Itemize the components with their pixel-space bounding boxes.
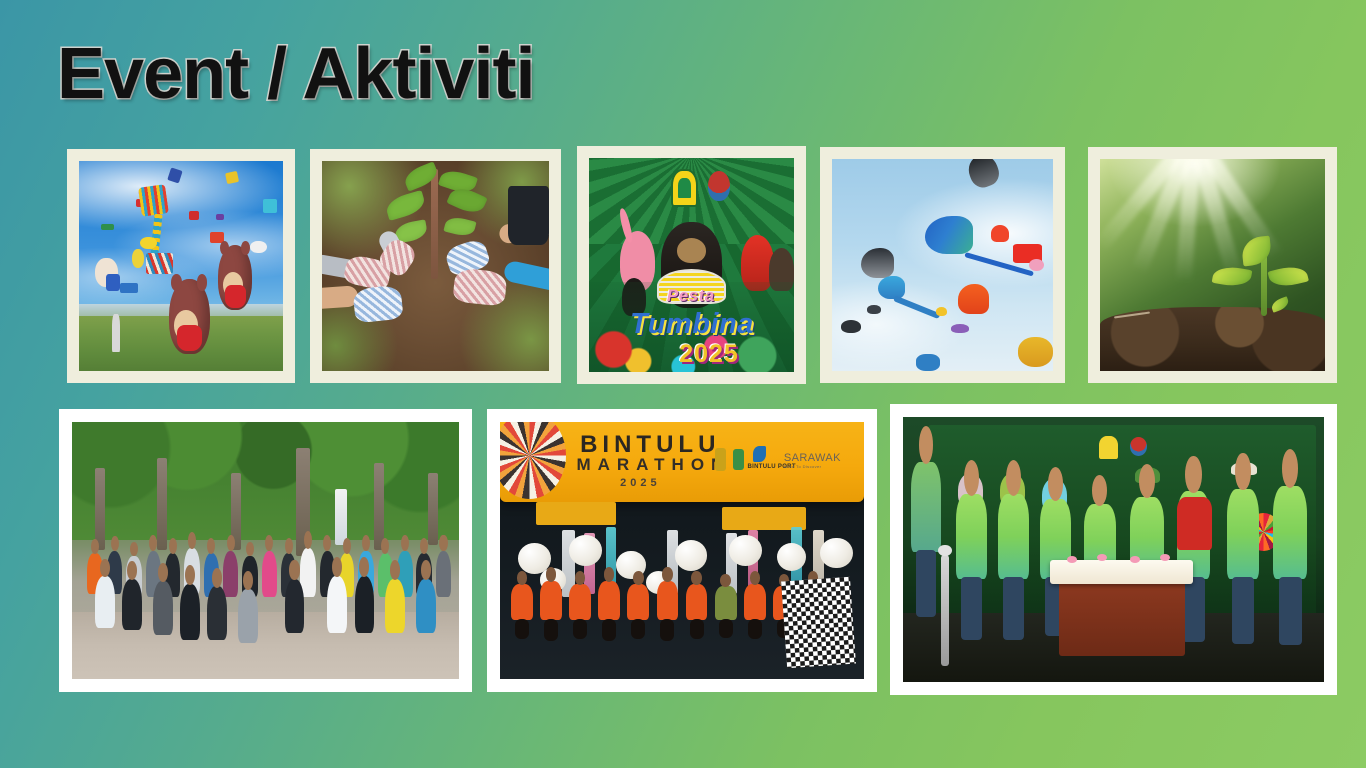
gallery-item-kite-festival-field[interactable]	[67, 149, 295, 383]
marathon-title-line2: MARATHON	[576, 455, 730, 475]
official-person	[998, 494, 1030, 579]
balloon	[569, 535, 602, 566]
sapling-leaf	[383, 190, 426, 221]
ceremonial-cake	[1050, 560, 1193, 584]
official-person	[1273, 486, 1307, 579]
tree-trunk	[428, 473, 438, 545]
gallery-item-bintulu-marathon-startline[interactable]: BINTULU MARATHON 2025 BINTULU PORT SARAW…	[487, 409, 877, 692]
vip-red-vest	[1177, 497, 1213, 550]
crowd-person-front	[285, 579, 304, 633]
seedling-leaf	[1267, 263, 1309, 291]
soil-mound	[1100, 307, 1325, 371]
arm	[502, 260, 549, 294]
runner	[598, 581, 620, 620]
runner	[627, 584, 649, 620]
rope-stanchion	[941, 555, 949, 666]
kite-shape	[132, 249, 144, 268]
photo-bintulu-marathon-startline: BINTULU MARATHON 2025 BINTULU PORT SARAW…	[500, 422, 864, 679]
state-crest-icon	[671, 169, 698, 208]
poster-title-tumbina: Tumbina	[630, 308, 754, 341]
cake-rose-decoration	[1067, 556, 1077, 563]
kite-small	[936, 307, 947, 315]
kite-pink	[1029, 259, 1044, 272]
kite-streamer	[138, 184, 168, 217]
runner	[744, 584, 766, 620]
photo-cake-cutting-ceremony	[903, 417, 1324, 682]
kite-small	[916, 354, 940, 371]
marathon-year: 2025	[620, 477, 660, 489]
ceremony-table	[1059, 576, 1185, 656]
sapling-stem	[431, 169, 438, 278]
kite-shape	[120, 283, 138, 294]
checkered-flag	[781, 576, 856, 668]
smiley-kite	[140, 237, 156, 250]
photo-pesta-tumbina-poster: Pesta Tumbina 2025	[589, 158, 794, 372]
kite-butterfly	[1018, 337, 1053, 367]
balloon	[675, 540, 708, 571]
sarawak-text: SARAWAK	[784, 452, 841, 464]
crowd-person-front	[95, 576, 114, 627]
bintulu-port-mark-icon	[753, 446, 766, 461]
official-person	[1227, 489, 1259, 579]
kite-shape	[189, 211, 199, 219]
photo-community-group-photo	[72, 422, 459, 679]
gallery-item-cake-cutting-ceremony[interactable]	[890, 404, 1337, 695]
kite-small	[951, 324, 969, 332]
sarawak-tagline: More To Discover	[784, 464, 841, 469]
kite-shape	[167, 168, 183, 184]
seedling-leaf	[1211, 264, 1252, 289]
kite-small	[841, 320, 861, 333]
squirrel-mascot-kite	[169, 279, 210, 355]
crowd-person-front	[385, 579, 404, 633]
kite-dragon	[861, 248, 894, 278]
council-logo-icon	[733, 449, 744, 470]
balloon	[777, 543, 806, 571]
crowd-person	[223, 551, 238, 597]
speaker-box	[536, 502, 616, 525]
runner	[540, 581, 562, 620]
crowd-person	[436, 551, 451, 597]
crowd-person-front	[355, 576, 374, 633]
photo-kite-festival-field	[79, 161, 283, 371]
runner	[657, 581, 679, 620]
event-banner	[335, 489, 347, 546]
official-person	[911, 462, 940, 552]
kite-blue-fish	[878, 276, 905, 299]
glove-blue	[352, 285, 403, 323]
gallery-item-community-group-photo[interactable]	[59, 409, 472, 692]
runner	[715, 586, 737, 619]
crowd-person-front	[153, 581, 172, 635]
poster-year: 2025	[679, 340, 739, 369]
official-person	[956, 494, 988, 579]
tree-trunk	[157, 458, 167, 551]
gallery-item-animal-kites-sky[interactable]	[820, 147, 1065, 383]
sarawak-emblem-icon	[715, 448, 726, 471]
kite-shape	[225, 170, 239, 183]
photo-tree-planting-hands	[322, 161, 549, 371]
gallery-item-seedling-in-soil[interactable]	[1088, 147, 1337, 383]
squirrel-mascot-kite	[218, 245, 253, 310]
crowd-person-front	[180, 584, 199, 641]
gallery-item-tree-planting-hands[interactable]	[310, 149, 561, 383]
kite-shape	[250, 241, 266, 254]
kite-red-orange	[991, 225, 1009, 242]
poster-title-pesta: Pesta	[667, 286, 715, 306]
crowd-person-front	[327, 576, 346, 633]
kite-shape	[263, 199, 277, 214]
cake-rose-decoration	[1130, 556, 1140, 563]
kite-shape	[101, 224, 113, 230]
glove-red	[452, 268, 507, 307]
balloon	[729, 535, 762, 566]
runner	[569, 584, 591, 620]
crowd-person-front	[207, 586, 226, 640]
seedling-leaf	[1240, 236, 1272, 266]
kite-shape	[216, 214, 224, 220]
photo-animal-kites-sky	[832, 159, 1053, 371]
kite-seahorse	[925, 216, 974, 254]
photo-seedling-in-soil	[1100, 159, 1325, 371]
kite-black-white	[964, 159, 1002, 191]
crowd-person-front	[238, 589, 257, 643]
bag	[508, 186, 549, 245]
kite-small	[867, 305, 880, 313]
runner	[686, 584, 708, 620]
sponsor-sarawak-label: SARAWAK More To Discover	[784, 452, 841, 469]
person-walking	[112, 314, 120, 352]
page-title: Event / Aktiviti	[57, 38, 534, 110]
state-crest-icon	[1099, 436, 1118, 459]
crowd-person-front	[122, 579, 141, 630]
tree-canopy	[72, 422, 459, 540]
balloon	[820, 538, 853, 569]
tree-trunk	[374, 463, 384, 550]
agency-logo-icon	[1130, 437, 1147, 456]
sapling-leaf	[443, 214, 476, 237]
gallery-item-pesta-tumbina-poster[interactable]: Pesta Tumbina 2025	[577, 146, 806, 384]
kite-orange-dino	[958, 284, 989, 314]
kite-shape	[146, 253, 173, 274]
runner	[511, 584, 533, 620]
kite-shape	[106, 274, 120, 291]
crowd-person	[262, 551, 277, 597]
tree-trunk	[95, 468, 105, 550]
agency-logo-icon	[708, 171, 731, 201]
kite-tail	[893, 295, 940, 319]
crowd-person-front	[416, 579, 435, 633]
